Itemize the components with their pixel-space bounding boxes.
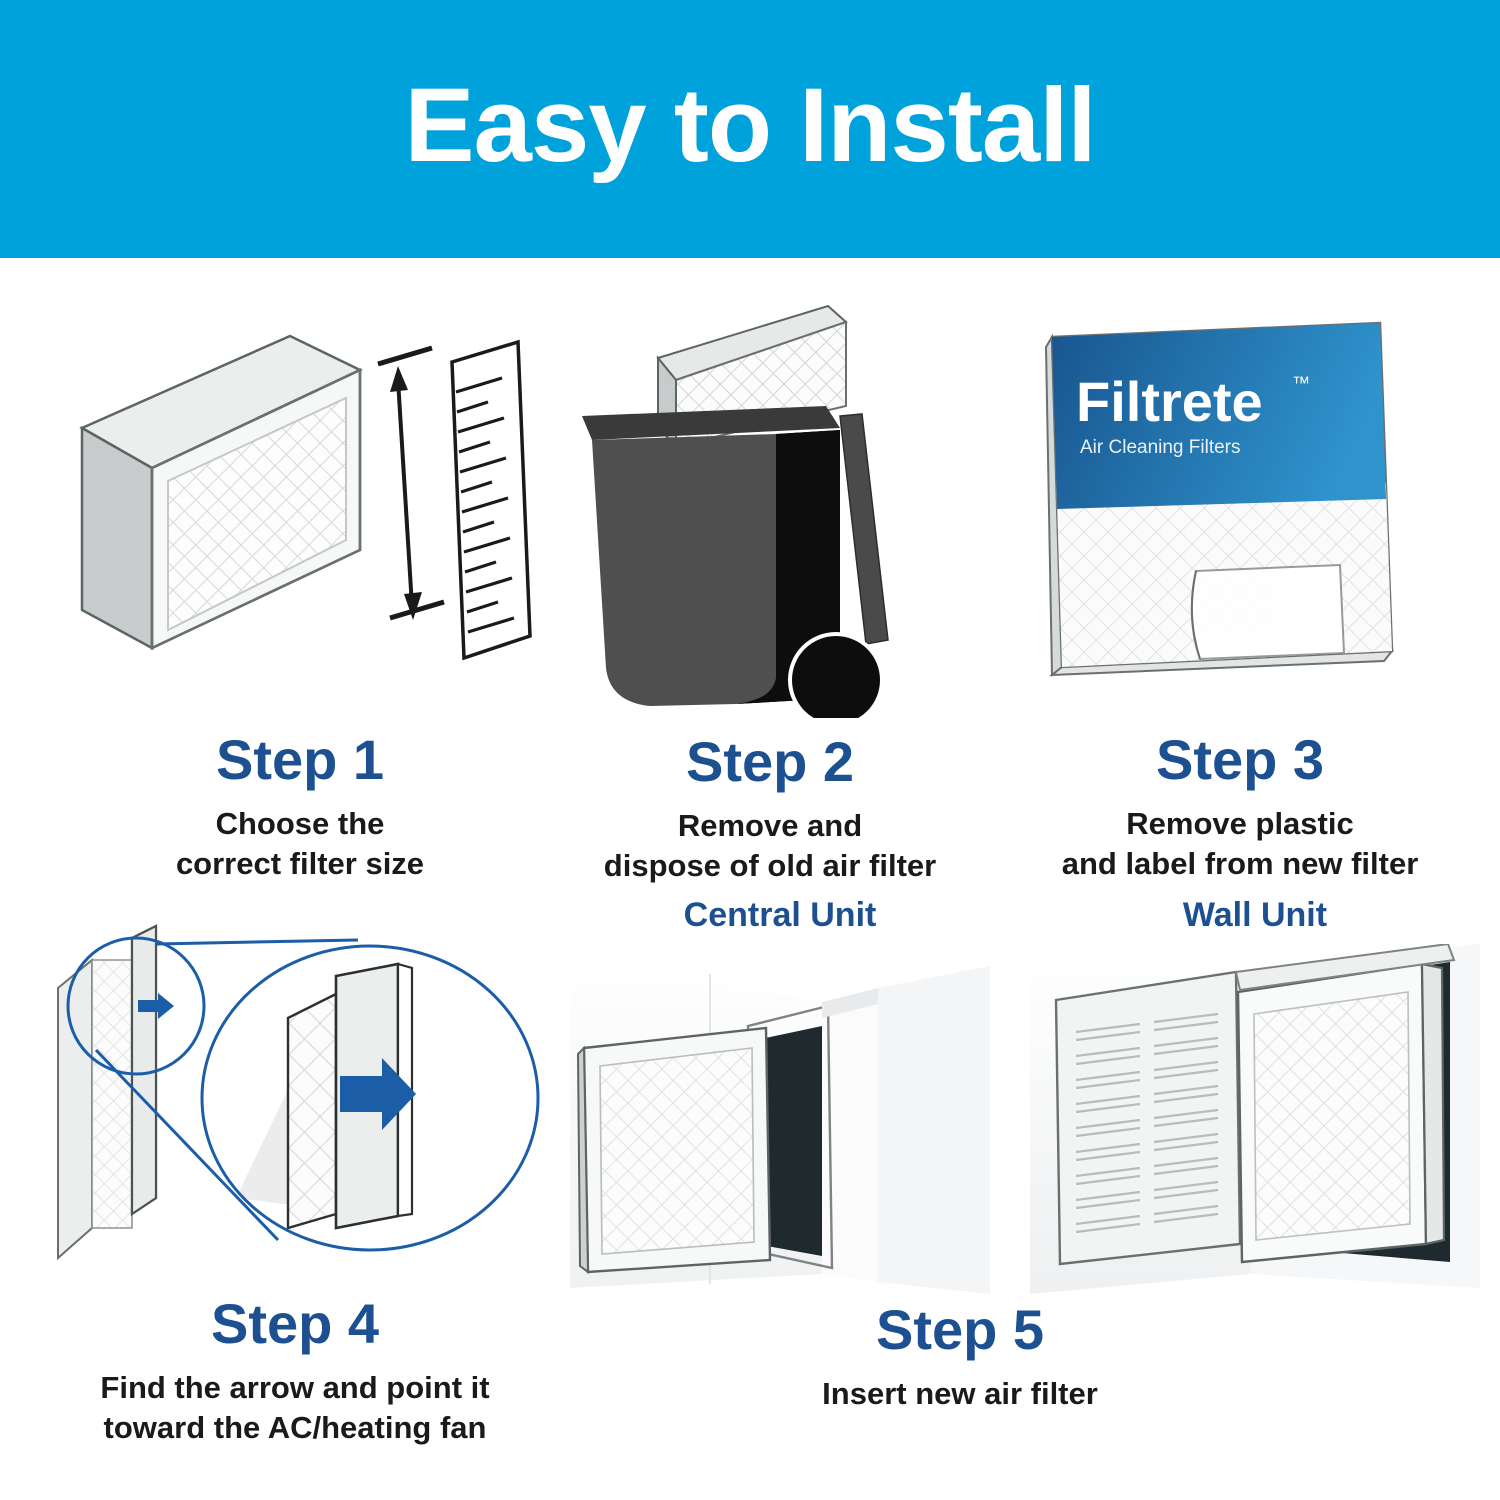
step-2-title: Step 2 <box>540 734 1000 790</box>
filtrete-packaged-filter-icon: Filtrete ™ Air Cleaning Filters <box>1000 303 1480 718</box>
step-3-title: Step 3 <box>1000 732 1480 788</box>
header-banner: Easy to Install <box>0 0 1500 258</box>
steps-grid: Step 1 Choose the correct filter size <box>0 258 1500 1500</box>
brand-name: Filtrete <box>1076 370 1263 433</box>
step-card-5: Central Unit <box>560 898 1480 1414</box>
step-3-description: Remove plastic and label from new filter <box>1000 804 1480 883</box>
step-5-illustration: Central Unit <box>560 898 1480 1298</box>
central-unit-illustration-icon <box>560 944 1000 1294</box>
step-4-title: Step 4 <box>40 1296 550 1352</box>
trash-bin-with-old-filter-icon <box>540 288 1000 718</box>
step-5-description: Insert new air filter <box>710 1374 1210 1414</box>
step-1-title: Step 1 <box>60 732 540 788</box>
filter-edge-airflow-arrow-magnified-icon <box>40 898 550 1288</box>
step-4-description: Find the arrow and point it toward the A… <box>40 1368 550 1447</box>
wall-unit-label: Wall Unit <box>1030 898 1480 932</box>
trademark-symbol: ™ <box>1292 373 1310 393</box>
central-unit-label: Central Unit <box>560 898 1000 932</box>
step-1-description: Choose the correct filter size <box>60 804 540 883</box>
step-card-4: Step 4 Find the arrow and point it towar… <box>40 898 550 1447</box>
step-5-title: Step 5 <box>710 1302 1210 1358</box>
step-4-illustration <box>40 898 550 1288</box>
wall-unit-illustration-icon <box>1030 944 1480 1294</box>
step-2-illustration <box>540 288 1000 718</box>
step-card-1: Step 1 Choose the correct filter size <box>60 318 540 883</box>
step-2-description: Remove and dispose of old air filter <box>540 806 1000 885</box>
step-card-2: Step 2 Remove and dispose of old air fil… <box>540 288 1000 885</box>
brand-tagline: Air Cleaning Filters <box>1080 437 1241 458</box>
air-filter-with-ruler-icon <box>60 318 540 718</box>
page-title: Easy to Install <box>404 73 1095 178</box>
step-3-illustration: Filtrete ™ Air Cleaning Filters <box>1000 303 1480 718</box>
step-card-3: Filtrete ™ Air Cleaning Filters Step 3 R… <box>1000 303 1480 883</box>
step-1-illustration <box>60 318 540 718</box>
